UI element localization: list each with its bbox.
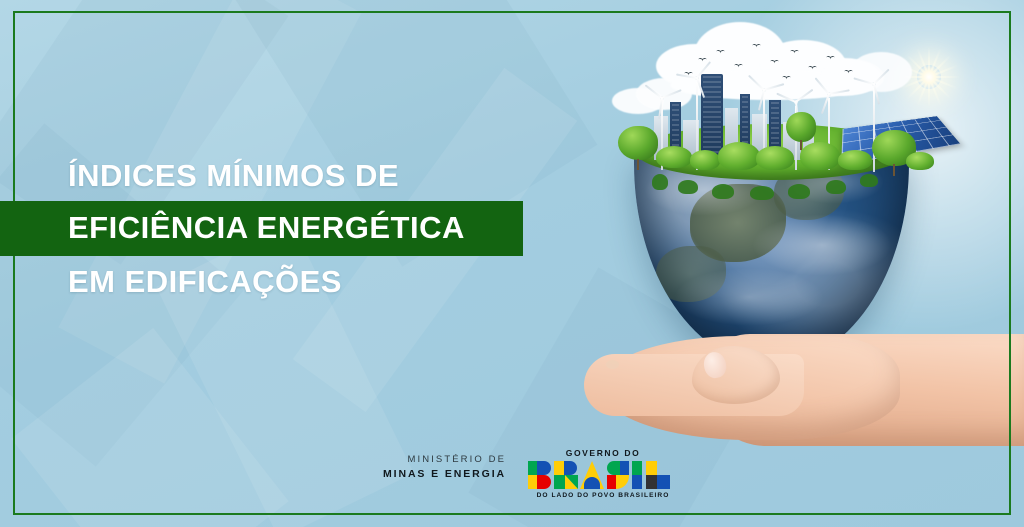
page-title: ÍNDICES MÍNIMOS DE EFICIÊNCIA ENERGÉTICA… bbox=[0, 160, 620, 297]
banner-root: ÍNDICES MÍNIMOS DE EFICIÊNCIA ENERGÉTICA… bbox=[0, 0, 1024, 527]
ministry-line-1: MINISTÉRIO DE bbox=[383, 454, 506, 465]
gov-tagline: DO LADO DO POVO BRASILEIRO bbox=[528, 492, 678, 499]
headline-line-3: EM EDIFICAÇÕES bbox=[0, 266, 620, 298]
logo-row: MINISTÉRIO DE MINAS E ENERGIA GOVERNO DO bbox=[383, 448, 678, 499]
ministry-line-2: MINAS E ENERGIA bbox=[383, 468, 506, 480]
gov-top-label: GOVERNO DO bbox=[528, 448, 678, 458]
headline-line-1: ÍNDICES MÍNIMOS DE bbox=[0, 160, 620, 192]
brasil-wordmark bbox=[528, 461, 678, 489]
headline-line-2: EFICIÊNCIA ENERGÉTICA bbox=[68, 212, 465, 244]
headline-highlight-bar: EFICIÊNCIA ENERGÉTICA bbox=[0, 201, 523, 256]
logo-governo-do-brasil: GOVERNO DO bbox=[528, 448, 678, 499]
logo-ministerio-minas-e-energia: MINISTÉRIO DE MINAS E ENERGIA bbox=[383, 448, 506, 480]
